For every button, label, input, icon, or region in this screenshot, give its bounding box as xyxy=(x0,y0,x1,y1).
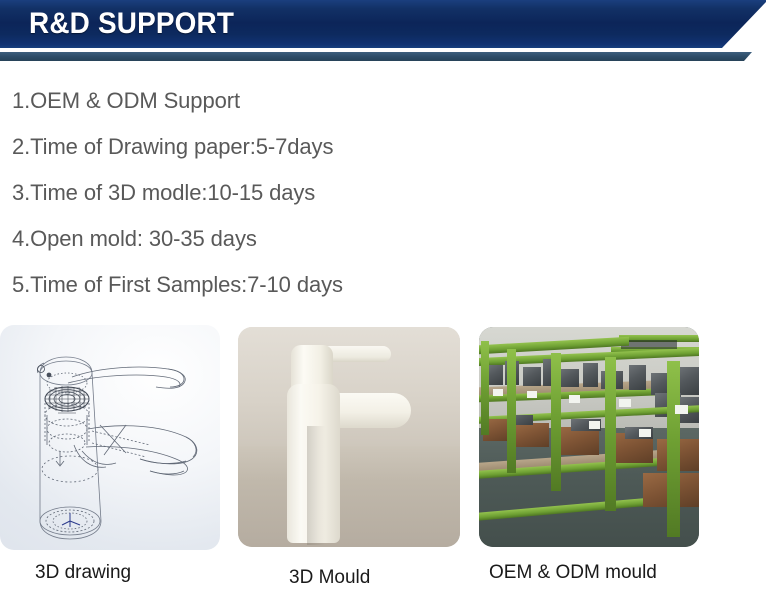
gallery-image-3d-drawing xyxy=(0,325,220,550)
faucet-shadow xyxy=(307,426,325,545)
cad-wireframe-icon xyxy=(0,325,220,550)
photo-background-counter xyxy=(238,446,460,547)
list-item: 5.Time of First Samples:7-10 days xyxy=(12,262,532,308)
mould-block xyxy=(523,367,541,386)
shelf-label-tag xyxy=(675,405,688,414)
gallery-caption: 3D Mould xyxy=(289,567,370,589)
rack-upright xyxy=(481,341,489,435)
header-accent-bar xyxy=(0,52,766,61)
mould-block xyxy=(629,365,646,390)
shelf-label-tag xyxy=(639,429,651,437)
mould-block xyxy=(487,365,503,385)
shelf-label-tag xyxy=(589,421,600,429)
list-item: 1.OEM & ODM Support xyxy=(12,78,532,124)
mould-block xyxy=(559,369,579,387)
gallery-caption: 3D drawing xyxy=(35,562,131,584)
list-item: 3.Time of 3D modle:10-15 days xyxy=(12,170,532,216)
rack-upright xyxy=(507,349,516,473)
header-accent-bar-shape xyxy=(0,52,766,61)
shelf-label-tag xyxy=(493,389,503,396)
shelf-label-tag xyxy=(619,399,631,407)
rd-support-list: 1.OEM & ODM Support 2.Time of Drawing pa… xyxy=(12,78,532,308)
page-title: R&D SUPPORT xyxy=(29,7,234,41)
shelf-label-tag xyxy=(569,395,580,403)
mould-block xyxy=(677,367,699,395)
rack-upright xyxy=(667,361,680,537)
rack-upright xyxy=(605,357,616,511)
gallery-caption: OEM & ODM mould xyxy=(489,562,657,584)
mould-block xyxy=(583,363,598,387)
gallery-image-oem-odm-mould xyxy=(479,327,699,547)
list-item: 4.Open mold: 30-35 days xyxy=(12,216,532,262)
page-header: R&D SUPPORT xyxy=(0,0,766,48)
gallery-image-3d-mould xyxy=(238,327,460,547)
list-item: 2.Time of Drawing paper:5-7days xyxy=(12,124,532,170)
crate xyxy=(557,427,599,455)
crate xyxy=(515,423,549,447)
rack-upright xyxy=(551,353,561,491)
rack-shadow xyxy=(621,340,677,349)
shelf-label-tag xyxy=(527,391,537,398)
